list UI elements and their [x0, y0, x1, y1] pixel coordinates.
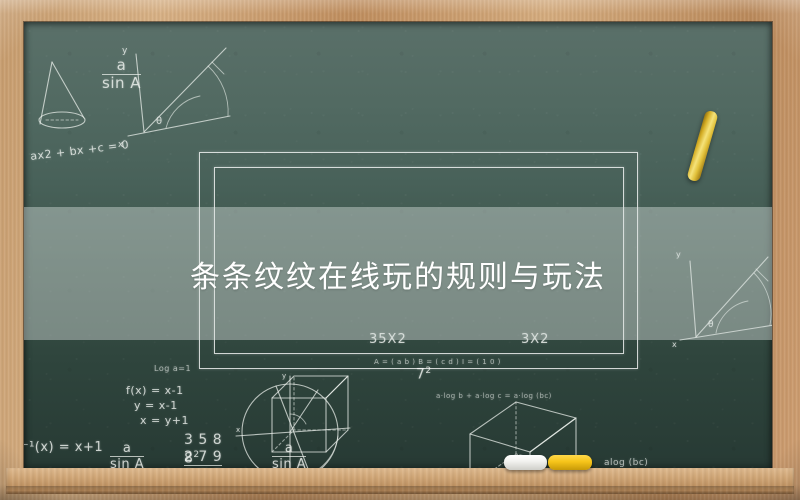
chalk-axis-label-x-bottomright: x	[236, 426, 241, 434]
chalk-subtraction-block: 3 5 8 2 7 9 6 3 7	[184, 432, 222, 470]
chalk-angle-axes-topleft	[108, 40, 238, 150]
screenshot-root: a sin A y x θ ax2 + bx +c = 0	[0, 0, 800, 500]
chalk-angle-label-topleft: θ	[156, 116, 163, 127]
chalk-frac2-numerator: a	[110, 442, 144, 456]
chalk-axis-label-y-topleft: y	[122, 46, 128, 56]
blackboard: a sin A y x θ ax2 + bx +c = 0	[24, 22, 772, 470]
yellow-chalk-piece[interactable]	[548, 455, 592, 470]
title-banner-overlay: 条条纹纹在线玩的规则与玩法	[24, 207, 772, 340]
white-chalk-piece[interactable]	[504, 455, 547, 470]
chalk-formula-a-over-sinA-bottomleft: a sin A	[110, 442, 144, 470]
chalk-ledge	[6, 468, 794, 494]
chalk-alog-bc: alog (bc)	[604, 458, 648, 468]
chalk-y-line: y = x-1	[126, 399, 189, 414]
chalk-subtraction-minuend: 3 5 8	[184, 432, 222, 449]
chalk-axis-label-x-right: x	[672, 340, 677, 349]
chalk-function-definition-block: f(x) = x-1 y = x-1 x = y+1	[126, 384, 189, 429]
chalk-subtraction-subtrahend: 2 7 9	[184, 449, 222, 466]
chalk-x-line: x = y+1	[126, 414, 189, 429]
yellow-chalk-stick-floating[interactable]	[686, 110, 718, 183]
chalk-quadratic-equation: ax2 + bx +c = 0	[30, 138, 130, 163]
chalk-axis-label-y-bottomright: y	[282, 372, 287, 380]
chalk-circle-diagram	[232, 374, 367, 470]
chalk-inverse-function: f ⁻¹(x) = x+1	[24, 440, 103, 455]
chalk-seven-base: 7	[416, 367, 425, 383]
page-title: 条条纹纹在线玩的规则与玩法	[190, 252, 606, 296]
chalk-ledge-lip	[6, 486, 794, 490]
chalk-fx-line: f(x) = x-1	[126, 384, 189, 399]
chalk-log-a-equals-one: Log a=1	[154, 364, 191, 373]
